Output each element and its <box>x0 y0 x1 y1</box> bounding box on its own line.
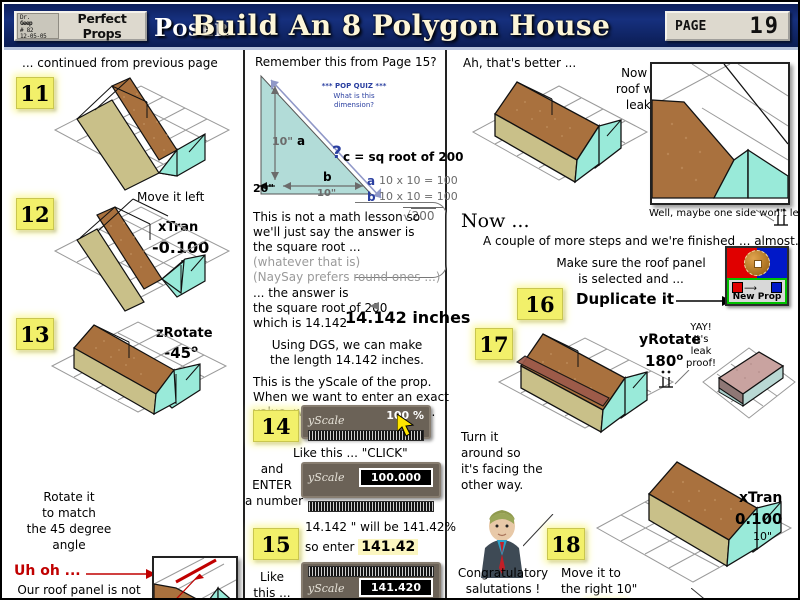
triangle-a-dimension: 10" <box>272 135 293 148</box>
step17-caption-line3: it's facing the <box>461 462 543 476</box>
tutorial-page: Dr. Geep # 82 12-05-05 Perfect Props Pos… <box>0 0 800 600</box>
step17-caption-line4: other way. <box>461 478 523 492</box>
step-badge-14: 14 <box>253 410 299 442</box>
congrats-line1: Congratulatory <box>451 566 555 580</box>
like-this-line1: Like <box>247 570 297 584</box>
pop-quiz-title: *** POP QUIZ *** <box>309 82 399 90</box>
triangle-b-label: b <box>323 170 332 184</box>
step17-caption-line1: Turn it <box>461 430 498 444</box>
black-arrow-icon <box>676 293 732 309</box>
pointer-line-icon <box>523 514 559 550</box>
duplicate-it-label: Duplicate it <box>576 290 674 308</box>
body-line-8: which is 14.142 <box>253 316 347 330</box>
smiley-winking-icon <box>756 205 792 233</box>
yscale-note-2: When we want to enter an exact <box>253 390 449 404</box>
step-badge-15: 15 <box>253 528 299 560</box>
roof-leak-detail-illustration <box>154 558 236 600</box>
new-prop-panel[interactable]: ⟶ New Prop <box>725 246 789 306</box>
yscale-dial-label: yScale <box>308 414 345 427</box>
triangle-left-dimension: 20" <box>253 182 274 195</box>
house-illustration-step-12 <box>29 193 234 318</box>
step15-line2: so enter 141.42 <box>305 539 418 555</box>
now-heading: Now ... <box>461 210 530 232</box>
body-line-4: (whatever that is) <box>253 255 360 269</box>
and-enter-line2: ENTER <box>247 478 297 492</box>
like-this-line2: this ... <box>247 586 297 600</box>
left-column: ... continued from previous page 11 <box>4 50 241 600</box>
page-number-badge: PAGE 19 <box>665 11 790 41</box>
right-column: Ah, that's better ... Now our roof <box>451 50 798 600</box>
step15-line1: 14.142 " will be 141.42% <box>305 520 456 534</box>
make-sure-line1: Make sure the roof panel <box>551 256 711 270</box>
yscale-dial-step14-entry[interactable]: yScale 100.000 <box>301 462 441 498</box>
new-prop-button[interactable]: ⟶ New Prop <box>727 278 787 304</box>
house-illustration-leak-proof <box>699 330 799 430</box>
page-header: Dr. Geep # 82 12-05-05 Perfect Props Pos… <box>4 4 798 50</box>
make-sure-line2: is selected and ... <box>551 272 711 286</box>
like-this-click: Like this ... "CLICK" <box>293 446 408 460</box>
pop-quiz-line2: dimension? <box>309 101 399 109</box>
house-illustration-step-13 <box>26 308 231 433</box>
congrats-line2: salutations ! <box>451 582 555 596</box>
body-line-3: the square root ... <box>253 240 361 254</box>
step18-param-value: 0.100 <box>735 510 782 528</box>
remember-note: Remember this from Page 15? <box>255 55 437 69</box>
and-enter-line1: and <box>247 462 297 476</box>
page-word-label: PAGE <box>675 19 706 34</box>
yscale-step15-ticks-top[interactable] <box>308 566 434 577</box>
body-line-1: This is not a math lesson so <box>253 210 420 224</box>
body-line-5: (NaySay prefers round ones ...) <box>253 270 440 284</box>
yscale-entry-label: yScale <box>308 471 345 484</box>
formula-a-value: 10 x 10 = 100 <box>379 174 458 187</box>
triangle-b-dimension: 10" <box>317 188 336 199</box>
pop-quiz-line1: What is this <box>309 92 399 100</box>
yscale-dial-step15[interactable]: yScale 141.420 <box>301 562 441 600</box>
new-prop-label: New Prop <box>729 292 785 302</box>
dgs-line2: the length 14.142 inches. <box>245 353 449 367</box>
triangle-question-mark: ? <box>332 143 342 163</box>
middle-column: Remember this from Page 15? *** POP QUIZ… <box>243 50 447 600</box>
formula-c: c = sq root of 200 <box>343 150 463 164</box>
yscale-step15-field[interactable]: 141.420 <box>359 578 433 597</box>
prop-knob-icon[interactable] <box>744 250 770 276</box>
red-arrow-icon <box>86 566 156 582</box>
body-line-6: ... the answer is <box>253 286 349 300</box>
step13-caption-line2: to match <box>14 506 124 520</box>
triangle-a-label: a <box>297 134 305 148</box>
uh-oh-body-line1: Our roof panel is not <box>4 583 154 597</box>
step13-caption-line3: the 45 degree <box>4 522 134 536</box>
step-badge-16: 16 <box>517 288 563 320</box>
yscale-entry-ticks[interactable] <box>308 501 434 512</box>
roof-leak-detail-box <box>152 556 238 600</box>
body-line-2: we'll just say the answer is <box>253 225 414 239</box>
yscale-step15-label: yScale <box>308 582 345 595</box>
yscale-note-1: This is the yScale of the prop. <box>253 375 431 389</box>
step15-enter-value: 141.42 <box>358 539 418 555</box>
diagonal-pointer-icon <box>691 588 731 600</box>
uh-oh-warning: Uh oh ... <box>14 563 81 579</box>
smiley-winking-icon-2 <box>659 370 699 402</box>
roof-seam-detail-illustration <box>652 64 788 203</box>
mouse-cursor-icon <box>397 414 417 440</box>
step18-param-label: xTran <box>739 490 782 506</box>
page-number-value: 19 <box>750 14 781 39</box>
and-enter-line3: a number <box>245 494 301 508</box>
step13-caption-line1: Rotate it <box>14 490 124 504</box>
step18-unit: 10" <box>753 530 772 543</box>
continued-note: ... continued from previous page <box>22 56 218 70</box>
formula-a-key: a <box>367 174 375 188</box>
house-illustration-step-11 <box>29 72 234 197</box>
yscale-entry-field[interactable]: 100.000 <box>359 468 433 487</box>
new-prop-color-swatch <box>727 248 787 278</box>
step17-caption-line2: around so <box>461 446 521 460</box>
step13-caption-line4: angle <box>14 538 124 552</box>
dgs-line1: Using DGS, we can make <box>245 338 449 352</box>
roof-seam-detail-box <box>650 62 790 205</box>
